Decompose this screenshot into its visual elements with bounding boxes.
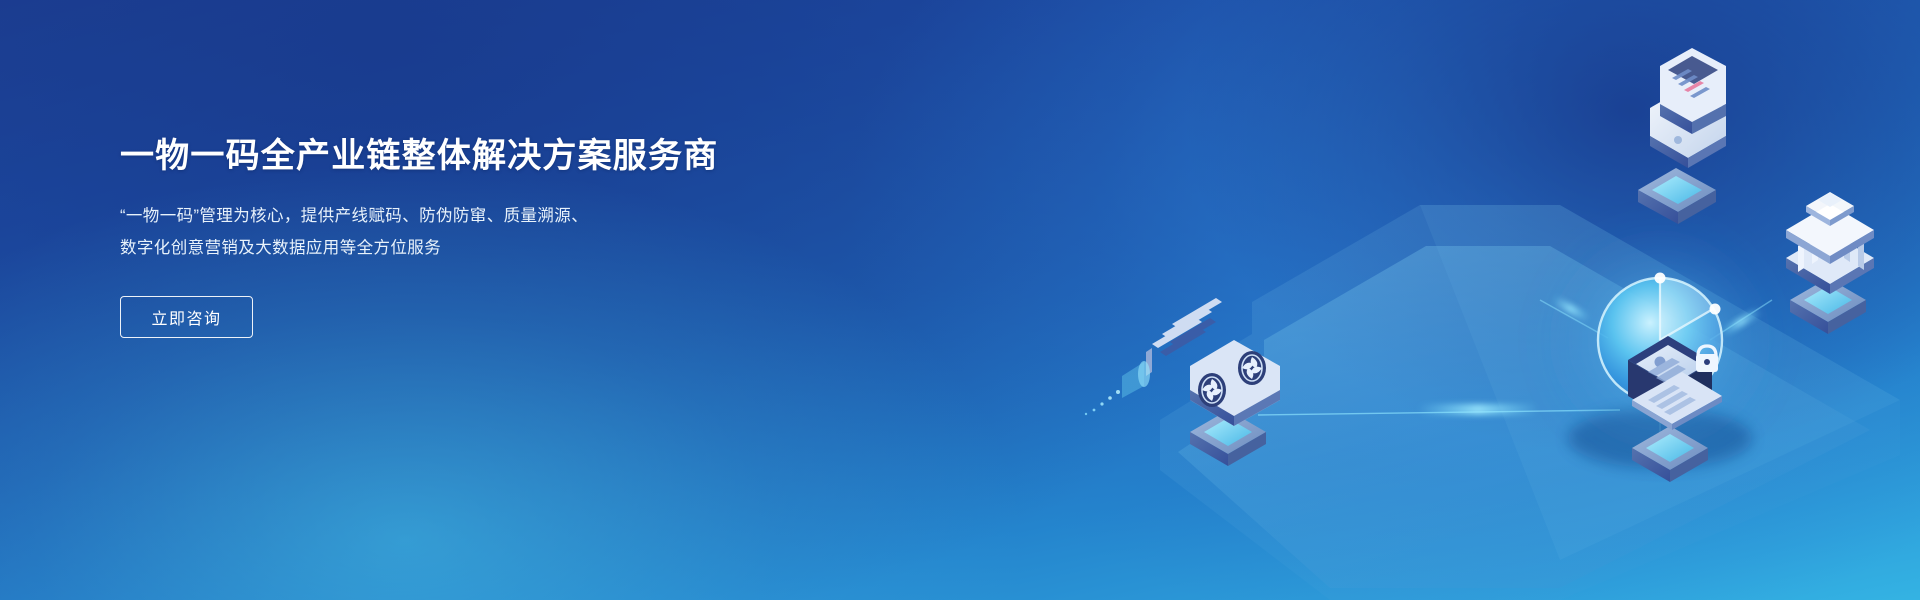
page-title: 一物一码全产业链整体解决方案服务商 (120, 135, 800, 178)
consult-now-button[interactable]: 立即咨询 (120, 296, 253, 338)
hero-illustration (860, 0, 1920, 600)
pedestal (1790, 278, 1866, 334)
platform-base (1160, 205, 1900, 600)
pedestal (1632, 426, 1708, 482)
background-glow-top-right (1180, 0, 1920, 460)
pedestal (1638, 168, 1716, 224)
hero-banner: 一物一码全产业链整体解决方案服务商 “一物一码”管理为核心，提供产线赋码、防伪防… (0, 0, 1920, 600)
hero-subtitle-line-2: 数字化创意营销及大数据应用等全方位服务 (120, 232, 800, 264)
pedestal (1190, 410, 1266, 466)
data-sphere-icon (1542, 222, 1778, 468)
connection-lines (1258, 295, 1772, 452)
hero-copy: 一物一码全产业链整体解决方案服务商 “一物一码”管理为核心，提供产线赋码、防伪防… (120, 135, 800, 338)
server-rack-icon (1085, 298, 1280, 466)
lock-icon (1696, 346, 1718, 372)
bank-building-icon (1786, 192, 1874, 334)
hero-subtitle: “一物一码”管理为核心，提供产线赋码、防伪防窜、质量溯源、 数字化创意营销及大数… (120, 200, 800, 264)
hero-subtitle-line-1: “一物一码”管理为核心，提供产线赋码、防伪防窜、质量溯源、 (120, 200, 800, 232)
laptop-security-icon (1628, 336, 1722, 482)
pos-terminal-icon (1638, 48, 1726, 224)
